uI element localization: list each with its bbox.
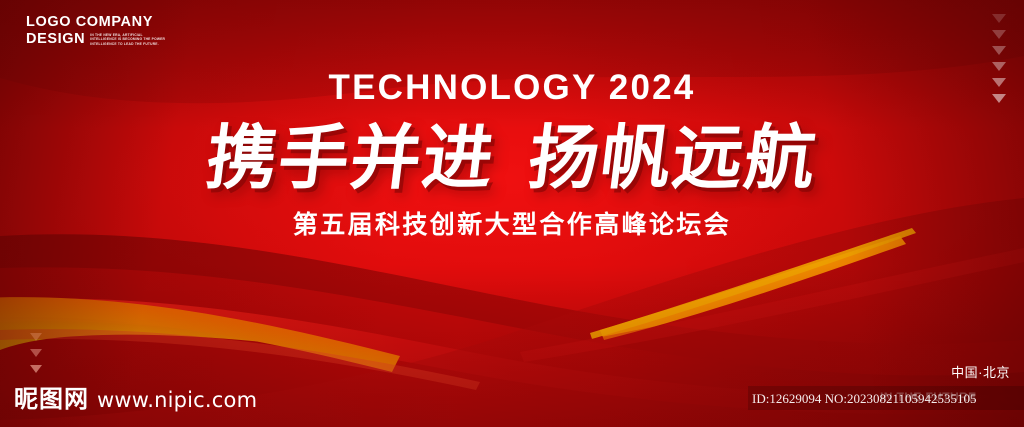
watermark-brand: 昵图网 [14, 386, 89, 414]
chevron-down-icon [30, 349, 42, 357]
chevron-down-icon [30, 333, 42, 341]
chevron-down-icon [992, 46, 1006, 55]
poster-canvas: LOGO COMPANY DESIGN IN THE NEW ERA, ARTI… [0, 0, 1024, 427]
watermark-url: www.nipic.com [97, 387, 257, 413]
chevron-down-icon [992, 30, 1006, 39]
chevron-down-icon [30, 365, 42, 373]
chevron-down-icon [992, 14, 1006, 23]
logo-tagline: IN THE NEW ERA, ARTIFICIAL INTELLIGENCE … [90, 31, 168, 46]
logo-block: LOGO COMPANY DESIGN IN THE NEW ERA, ARTI… [26, 14, 168, 48]
asset-id-text: ID:12629094 NO:20230821105942535105 [752, 390, 977, 407]
subtitle: 第五届科技创新大型合作高峰论坛会 [0, 210, 1024, 240]
eyebrow-title: TECHNOLOGY 2024 [0, 68, 1024, 108]
headline: 携手并进扬帆远航 [0, 118, 1024, 198]
watermark: 昵图网 www.nipic.com [14, 386, 257, 414]
location-label: 中国·北京 [951, 364, 1010, 381]
triangle-decor-left [30, 333, 42, 373]
headline-part-1: 携手并进 [202, 117, 500, 199]
headline-part-2: 扬帆远航 [524, 117, 822, 199]
logo-design-line: DESIGN [26, 31, 85, 48]
logo-company-line: LOGO COMPANY [26, 14, 168, 31]
main-content: TECHNOLOGY 2024 携手并进扬帆远航 第五届科技创新大型合作高峰论坛… [0, 68, 1024, 240]
